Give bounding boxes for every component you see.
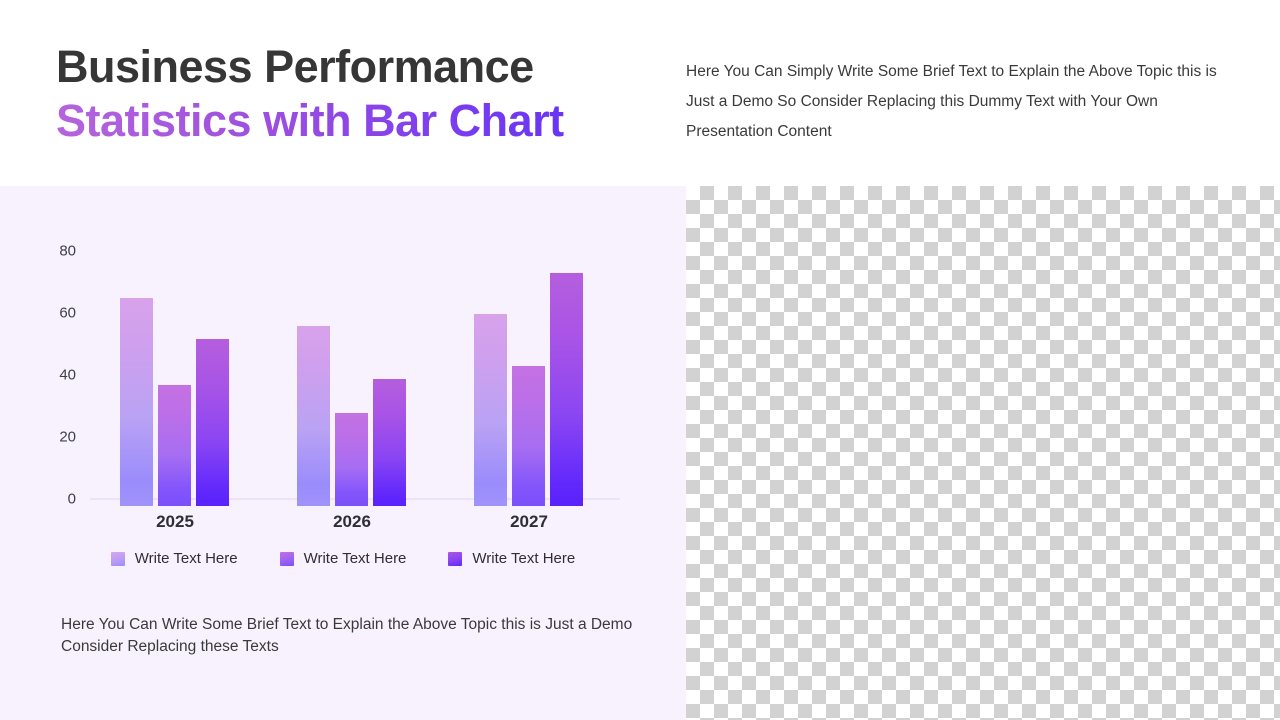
legend-label-series1: Write Text Here <box>135 550 238 567</box>
legend-item-series3[interactable]: Write Text Here <box>448 550 575 567</box>
header-description: Here You Can Simply Write Some Brief Tex… <box>686 57 1242 147</box>
chart-caption: Here You Can Write Some Brief Text to Ex… <box>61 614 651 658</box>
title-line-primary: Business Performance <box>56 40 656 94</box>
legend-label-series3: Write Text Here <box>472 550 575 567</box>
bar-2027-series2[interactable] <box>512 366 545 506</box>
legend-swatch-icon <box>280 552 294 566</box>
transparency-checkerboard <box>686 186 1280 720</box>
legend-item-series1[interactable]: Write Text Here <box>111 550 238 567</box>
legend-item-series2[interactable]: Write Text Here <box>280 550 407 567</box>
bar-2025-series2[interactable] <box>158 385 191 506</box>
header: Business Performance Statistics with Bar… <box>0 0 1280 186</box>
x-axis-label-2027: 2027 <box>469 512 589 532</box>
title-line-secondary: Statistics with Bar Chart <box>56 94 656 148</box>
bar-chart: 80 60 40 20 0 2025 2026 2027 <box>0 186 686 586</box>
legend-swatch-icon <box>111 552 125 566</box>
bar-2027-series1[interactable] <box>474 314 507 506</box>
plot-area <box>0 186 686 506</box>
bar-2027-series3[interactable] <box>550 273 583 506</box>
bar-2025-series3[interactable] <box>196 339 229 506</box>
bar-2026-series2[interactable] <box>335 413 368 506</box>
bar-2025-series1[interactable] <box>120 298 153 506</box>
chart-legend: Write Text Here Write Text Here Write Te… <box>0 550 686 567</box>
bar-2026-series3[interactable] <box>373 379 406 506</box>
x-axis-label-2026: 2026 <box>292 512 412 532</box>
bar-2026-series1[interactable] <box>297 326 330 506</box>
legend-label-series2: Write Text Here <box>304 550 407 567</box>
page-title: Business Performance Statistics with Bar… <box>56 40 656 148</box>
legend-swatch-icon <box>448 552 462 566</box>
x-axis-label-2025: 2025 <box>115 512 235 532</box>
chart-panel: 80 60 40 20 0 2025 2026 2027 Write Te <box>0 186 686 720</box>
